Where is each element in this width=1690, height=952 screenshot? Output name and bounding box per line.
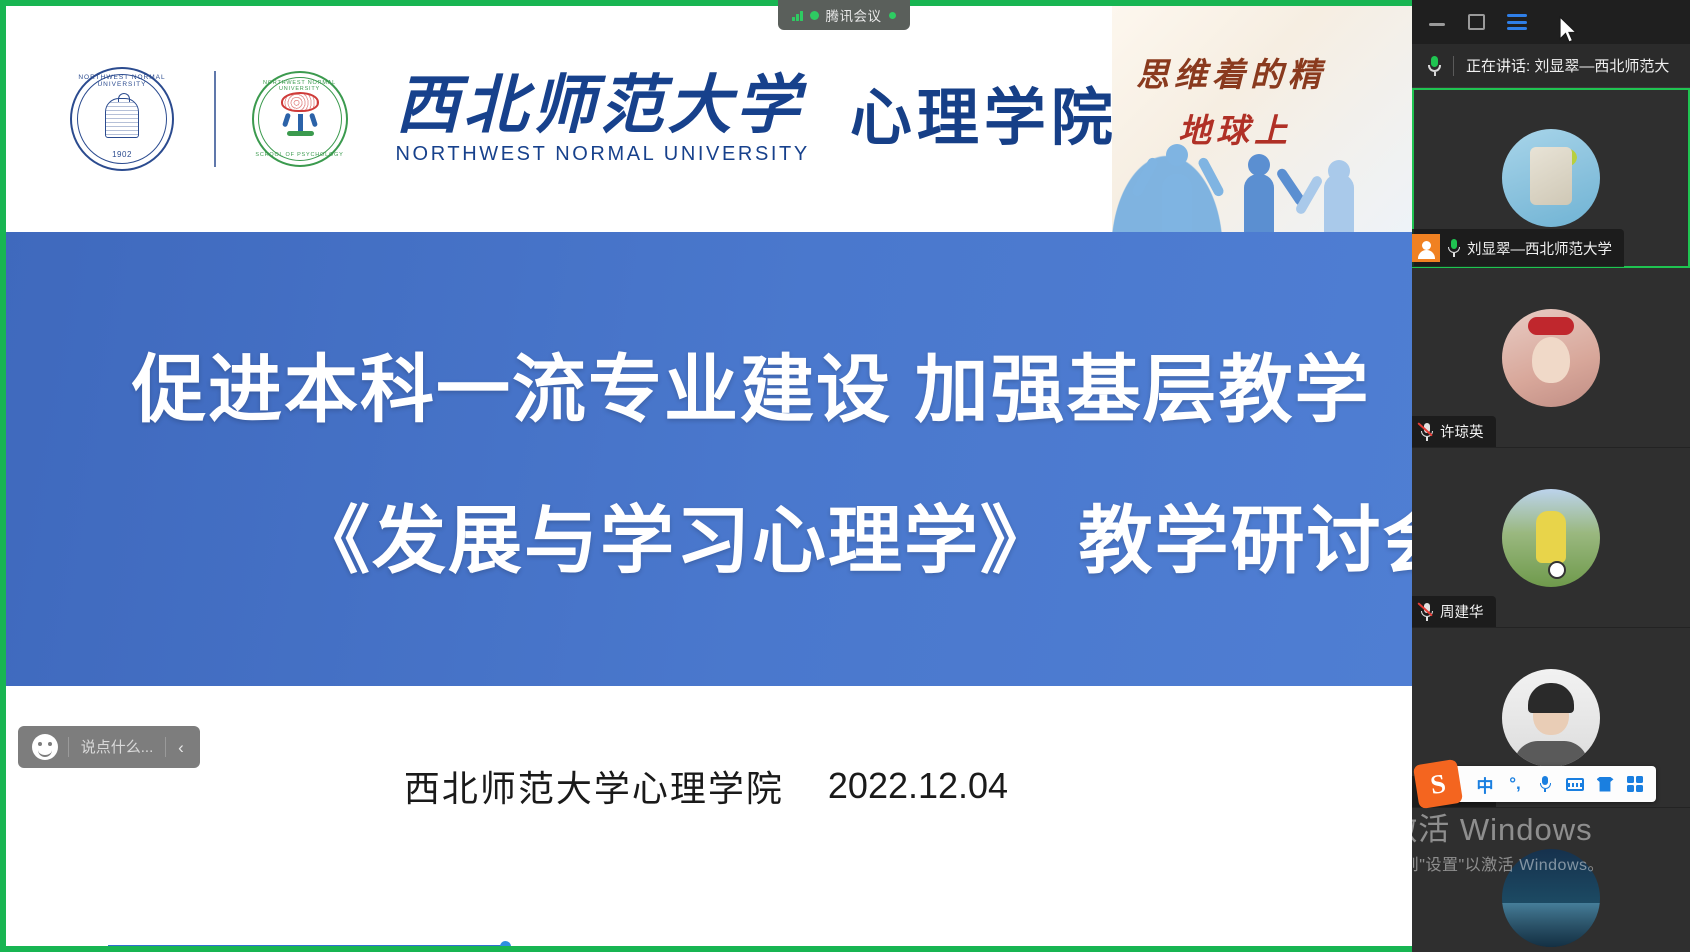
microphone-muted-icon [1420, 603, 1433, 621]
mouse-cursor-icon [1558, 16, 1580, 46]
hamburger-menu-icon[interactable] [1507, 14, 1527, 30]
university-name-cn: 西北师范大学 [396, 72, 810, 139]
nwnu-seal-icon: NORTHWEST NORMAL UNIVERSITY 1902 [70, 67, 174, 171]
college-name-cn: 心理学院 [850, 88, 1118, 150]
participant-tag: 周建华 [1412, 596, 1496, 627]
psy-seal-arc-bottom: SCHOOL OF PSYCHOLOGY [254, 152, 346, 158]
microphone-muted-icon [1420, 423, 1433, 441]
soft-keyboard-icon[interactable] [1560, 769, 1590, 799]
university-name-block: 西北师范大学 NORTHWEST NORMAL UNIVERSITY [396, 72, 810, 166]
screen-root: 腾讯会议 NORTHWEST NORMAL UNIVERSITY 1902 NO… [0, 0, 1690, 952]
participant-tile[interactable]: 刘显翠—西北师范大学 [1412, 88, 1690, 268]
sidebar-titlebar [1412, 0, 1690, 44]
slide-footer-org: 西北师范大学心理学院 [404, 760, 784, 812]
nwnu-seal-year: 1902 [72, 150, 172, 159]
slide-footer-date: 2022.12.04 [828, 765, 1008, 807]
participant-tile[interactable]: 周建华 [1412, 448, 1690, 628]
meeting-app-name: 腾讯会议 [826, 5, 882, 25]
active-speaker-label: 正在讲话: 刘显翠—西北师范大 [1466, 55, 1669, 76]
status-dot-icon [889, 12, 896, 19]
skin-shirt-icon[interactable] [1590, 769, 1620, 799]
host-person-icon [1412, 234, 1440, 262]
minimize-icon[interactable] [1428, 13, 1446, 31]
participant-name: 许琼英 [1440, 421, 1484, 442]
avatar [1502, 309, 1600, 407]
banner-line-1: 思维着的精 [1136, 48, 1326, 96]
avatar [1502, 849, 1600, 947]
banner-person-3 [1302, 154, 1378, 232]
slide-title-block: 促进本科一流专业建设 加强基层教学 《发展与学习心理学》 教学研讨会 [0, 232, 1412, 686]
speaker-bar-divider [1453, 56, 1454, 76]
ime-punctuation-toggle[interactable]: °, [1500, 769, 1530, 799]
nwnu-seal-arc-text: NORTHWEST NORMAL UNIVERSITY [72, 74, 172, 88]
banner-person-2 [1224, 148, 1296, 232]
maximize-icon[interactable] [1468, 14, 1485, 30]
meeting-status-pill[interactable]: 腾讯会议 [778, 0, 910, 30]
participant-tag: 许琼英 [1412, 416, 1496, 447]
slide-footer: 西北师范大学心理学院 2022.12.04 [0, 686, 1412, 946]
screen-share-border-left [0, 0, 6, 952]
participant-tile[interactable]: 许琼英 [1412, 268, 1690, 448]
active-speaker-bar: 正在讲话: 刘显翠—西北师范大 [1412, 44, 1690, 88]
sogou-logo-icon[interactable]: S [1413, 759, 1463, 809]
banner-person-1 [1138, 140, 1218, 232]
screen-share-border-top [0, 0, 1412, 6]
voice-input-icon[interactable] [1530, 769, 1560, 799]
microphone-active-icon [1428, 56, 1441, 76]
participant-tag: 刘显翠—西北师范大学 [1412, 229, 1624, 267]
participant-tiles: 刘显翠—西北师范大学 许琼英 [1412, 88, 1690, 952]
app-grid-icon[interactable] [1620, 769, 1650, 799]
participant-name: 刘显翠—西北师范大学 [1467, 238, 1612, 259]
header-banner-artwork: 思维着的精 地球上 [1112, 6, 1412, 232]
university-name-en: NORTHWEST NORMAL UNIVERSITY [396, 143, 810, 166]
avatar [1502, 489, 1600, 587]
comment-bar[interactable]: ‹ [18, 726, 200, 768]
participants-sidebar: 正在讲话: 刘显翠—西北师范大 刘显翠—西北师范大学 [1412, 0, 1690, 952]
comment-input[interactable] [69, 739, 165, 756]
slide-title-line-2: 《发展与学习心理学》 教学研讨会 [0, 481, 1412, 588]
avatar [1502, 669, 1600, 767]
chevron-left-icon[interactable]: ‹ [166, 739, 196, 756]
logo-divider [214, 71, 216, 167]
psy-seal-symbol [271, 90, 329, 148]
participant-name: 周建华 [1440, 601, 1484, 622]
screen-share-border-bottom [0, 946, 1412, 952]
sogou-ime-toolbar[interactable]: S 中 °, [1426, 766, 1656, 802]
microphone-active-icon [1447, 239, 1460, 257]
shared-slide: NORTHWEST NORMAL UNIVERSITY 1902 NORTHWE… [0, 6, 1412, 946]
slide-title-line-1: 促进本科一流专业建设 加强基层教学 [0, 330, 1412, 437]
green-dot-icon [810, 11, 819, 20]
slide-header: NORTHWEST NORMAL UNIVERSITY 1902 NORTHWE… [0, 6, 1412, 232]
nwnu-seal-bell [95, 90, 149, 148]
avatar [1502, 129, 1600, 227]
school-of-psychology-seal-icon: NORTHWEST NORMAL UNIVERSITY SCHOOL OF PS… [252, 71, 348, 167]
participant-tile[interactable] [1412, 808, 1690, 952]
smiley-face-icon[interactable] [32, 734, 58, 760]
ime-language-mode[interactable]: 中 [1470, 769, 1500, 799]
signal-bars-icon [792, 10, 803, 21]
